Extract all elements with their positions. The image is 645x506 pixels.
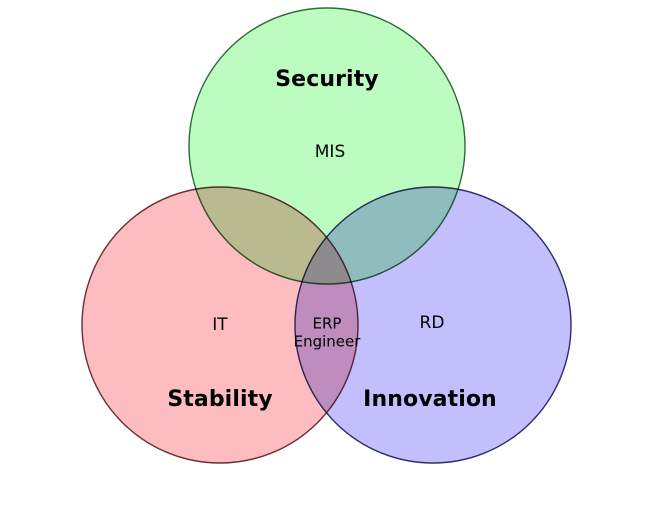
venn-circles-svg [0,0,645,506]
venn-circle-security[interactable] [189,8,465,284]
venn-diagram-canvas: Security MIS Stability IT Innovation RD … [0,0,645,506]
